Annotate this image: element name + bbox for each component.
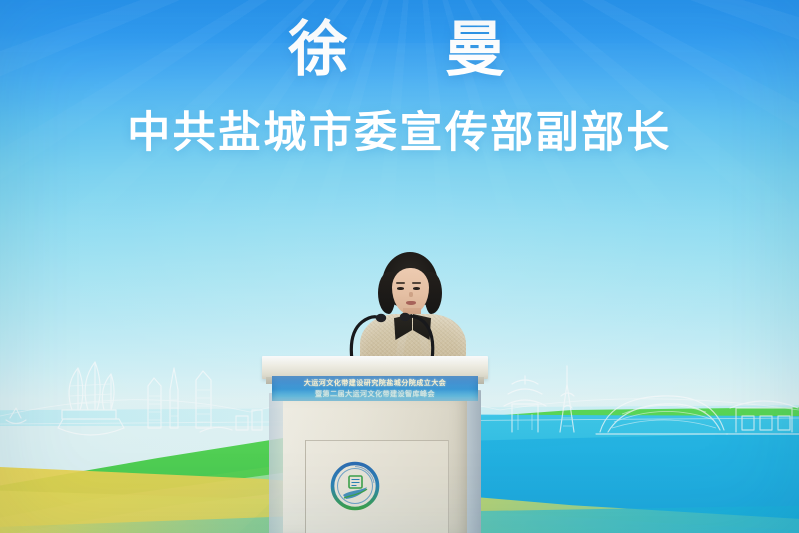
podium-banner-line-1: 大运河文化带建设研究院盐城分院成立大会	[304, 378, 446, 389]
circular-institute-emblem	[330, 461, 380, 511]
podium-banner: 大运河文化带建设研究院盐城分院成立大会 暨第二届大运河文化带建设智库峰会	[272, 376, 478, 401]
podium: 大运河文化带建设研究院盐城分院成立大会 暨第二届大运河文化带建设智库峰会	[0, 0, 799, 533]
podium-banner-line-2: 暨第二届大运河文化带建设智库峰会	[315, 389, 435, 400]
screenshot-stage: 徐 曼 中共盐城市委宣传部副部长	[0, 0, 799, 533]
